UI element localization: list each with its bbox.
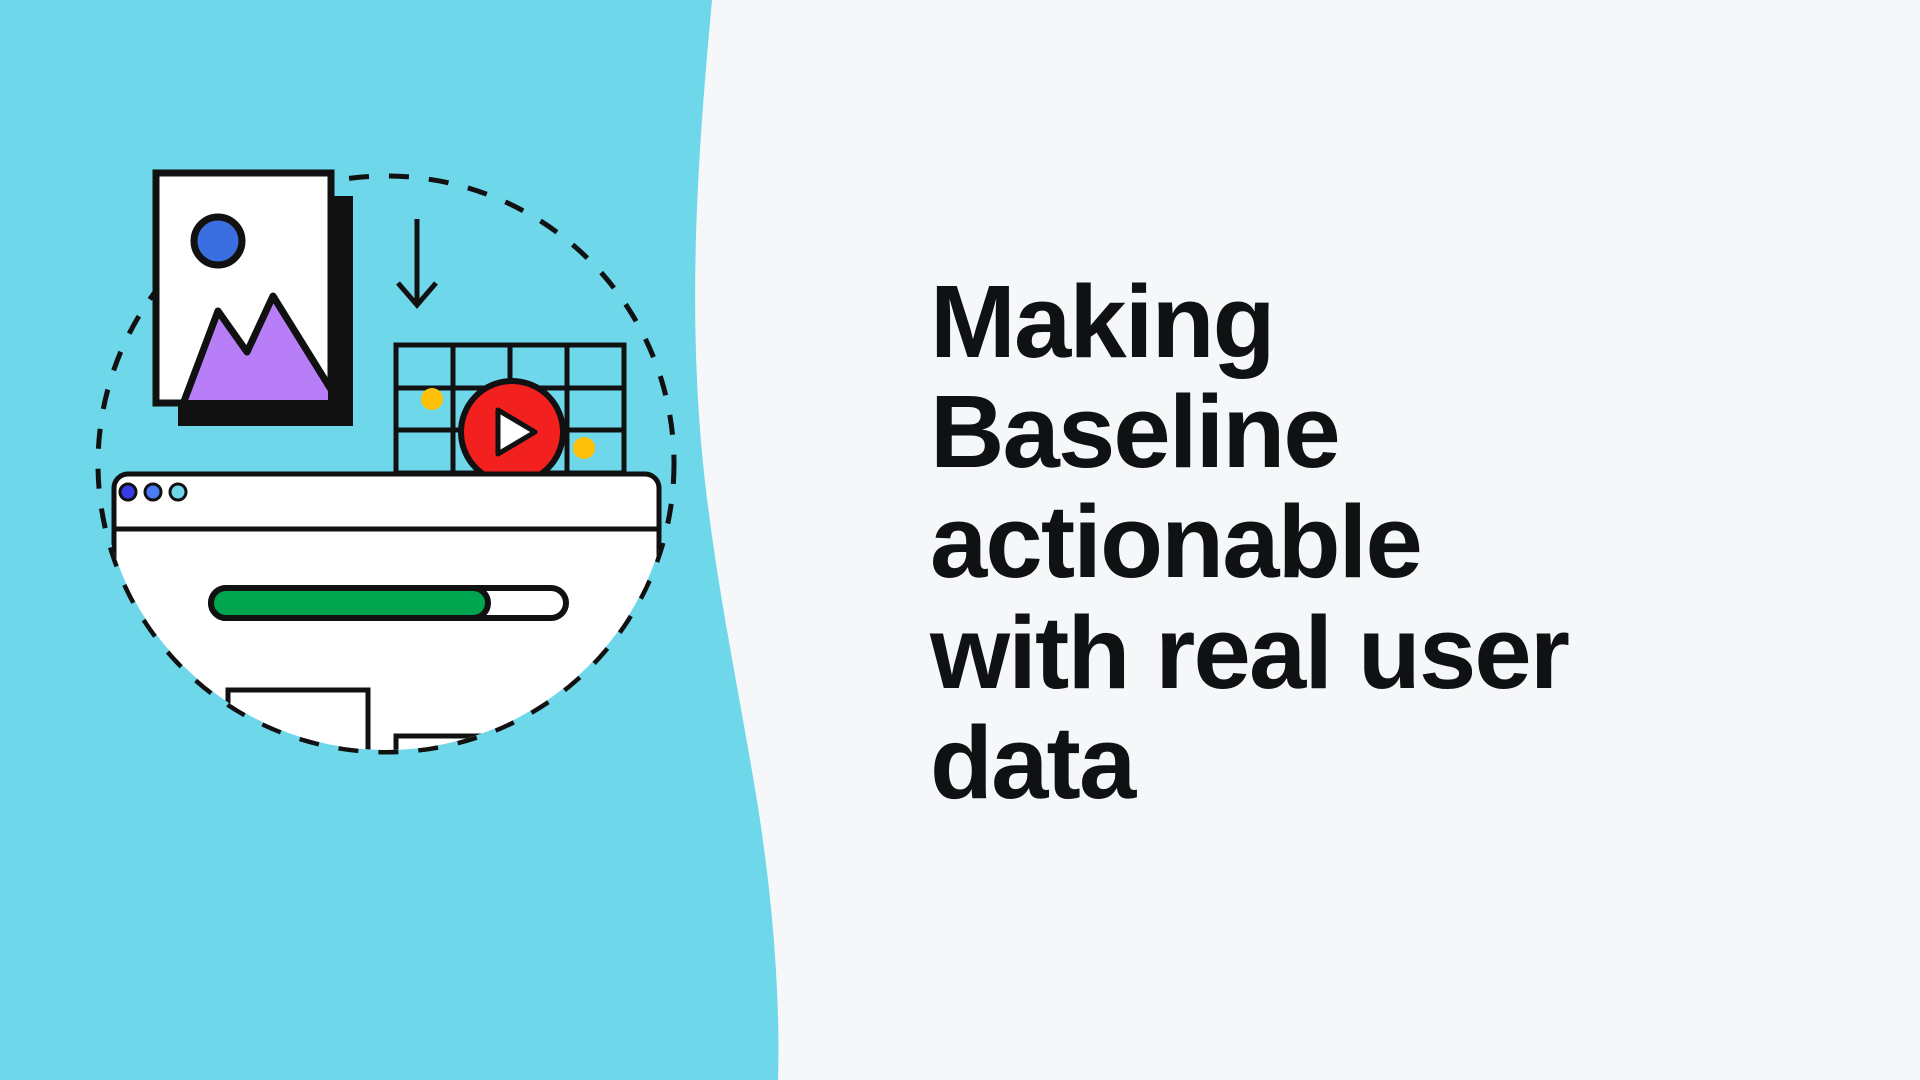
browser-window xyxy=(114,474,659,820)
shift-marker-left-icon xyxy=(421,388,443,410)
image-placeholder-card xyxy=(156,173,353,426)
slide-canvas: Making Baseline actionable with real use… xyxy=(0,0,1920,1080)
download-arrow-icon xyxy=(398,219,436,305)
shift-marker-right-icon xyxy=(573,437,595,459)
page-title: Making Baseline actionable with real use… xyxy=(930,267,1760,818)
sun-icon xyxy=(194,217,242,265)
video-play-button[interactable] xyxy=(461,381,563,483)
browser-frame xyxy=(114,474,659,820)
progress-bar-fill xyxy=(211,588,488,618)
window-dot-1-icon[interactable] xyxy=(120,484,136,500)
content-block-right xyxy=(396,736,492,796)
window-dot-3-icon[interactable] xyxy=(170,484,186,500)
content-block-left xyxy=(228,690,368,785)
illustration xyxy=(0,0,900,1080)
window-dot-2-icon[interactable] xyxy=(145,484,161,500)
